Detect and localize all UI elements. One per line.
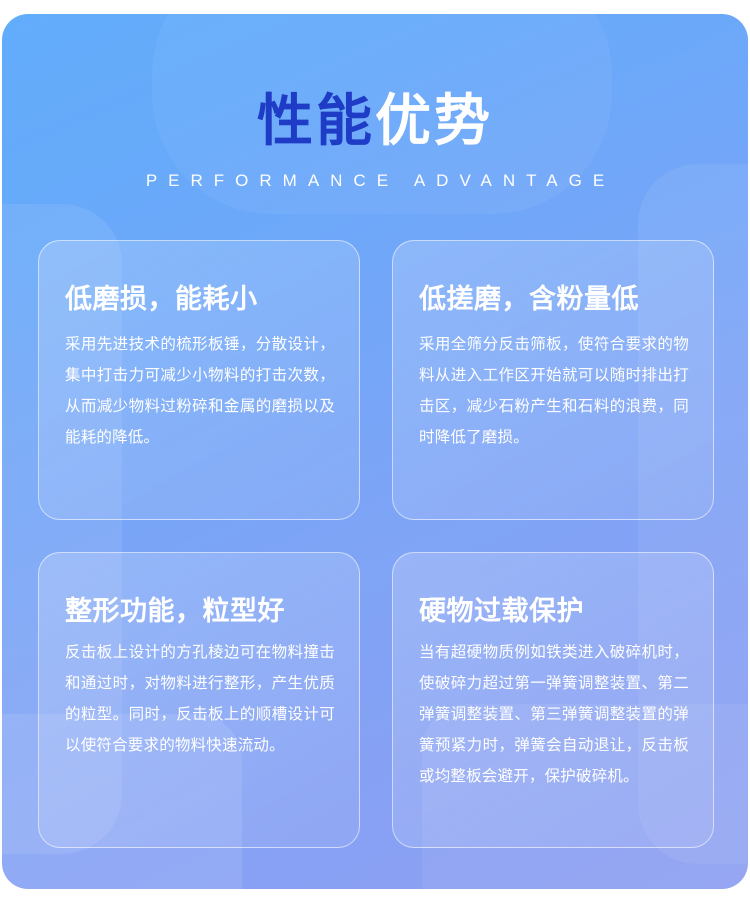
feature-card-title: 低磨损，能耗小	[65, 283, 335, 315]
promo-banner: 性能优势 PERFORMANCE ADVANTAGE 低磨损，能耗小 采用先进技…	[2, 14, 748, 889]
feature-card-grid: 低磨损，能耗小 采用先进技术的梳形板锤，分散设计，集中打击力可减少小物料的打击次…	[38, 240, 714, 848]
feature-card: 整形功能，粒型好 反击板上设计的方孔棱边可在物料撞击和通过时，对物料进行整形，产…	[38, 552, 360, 848]
feature-card: 硬物过载保护 当有超硬物质例如铁类进入破碎机时，使破碎力超过第一弹簧调整装置、第…	[392, 552, 714, 848]
page-title: 性能优势	[2, 14, 748, 151]
feature-card-body: 反击板上设计的方孔棱边可在物料撞击和通过时，对物料进行整形，产生优质的粒型。同时…	[65, 637, 335, 761]
feature-card-title: 低搓磨，含粉量低	[419, 283, 689, 315]
feature-card-body: 当有超硬物质例如铁类进入破碎机时，使破碎力超过第一弹簧调整装置、第二弹簧调整装置…	[419, 637, 689, 792]
feature-card-body: 采用先进技术的梳形板锤，分散设计，集中打击力可减少小物料的打击次数，从而减少物料…	[65, 329, 335, 453]
banner-header: 性能优势 PERFORMANCE ADVANTAGE	[2, 14, 748, 191]
feature-card-title: 硬物过载保护	[419, 595, 689, 627]
page-subtitle: PERFORMANCE ADVANTAGE	[2, 151, 748, 191]
page-title-part-primary: 性能	[257, 89, 375, 152]
feature-card-title: 整形功能，粒型好	[65, 595, 335, 627]
feature-card-body: 采用全筛分反击筛板，使符合要求的物料从进入工作区开始就可以随时排出打击区，减少石…	[419, 329, 689, 453]
page-title-part-secondary: 优势	[375, 89, 493, 152]
feature-card: 低搓磨，含粉量低 采用全筛分反击筛板，使符合要求的物料从进入工作区开始就可以随时…	[392, 240, 714, 520]
feature-card: 低磨损，能耗小 采用先进技术的梳形板锤，分散设计，集中打击力可减少小物料的打击次…	[38, 240, 360, 520]
